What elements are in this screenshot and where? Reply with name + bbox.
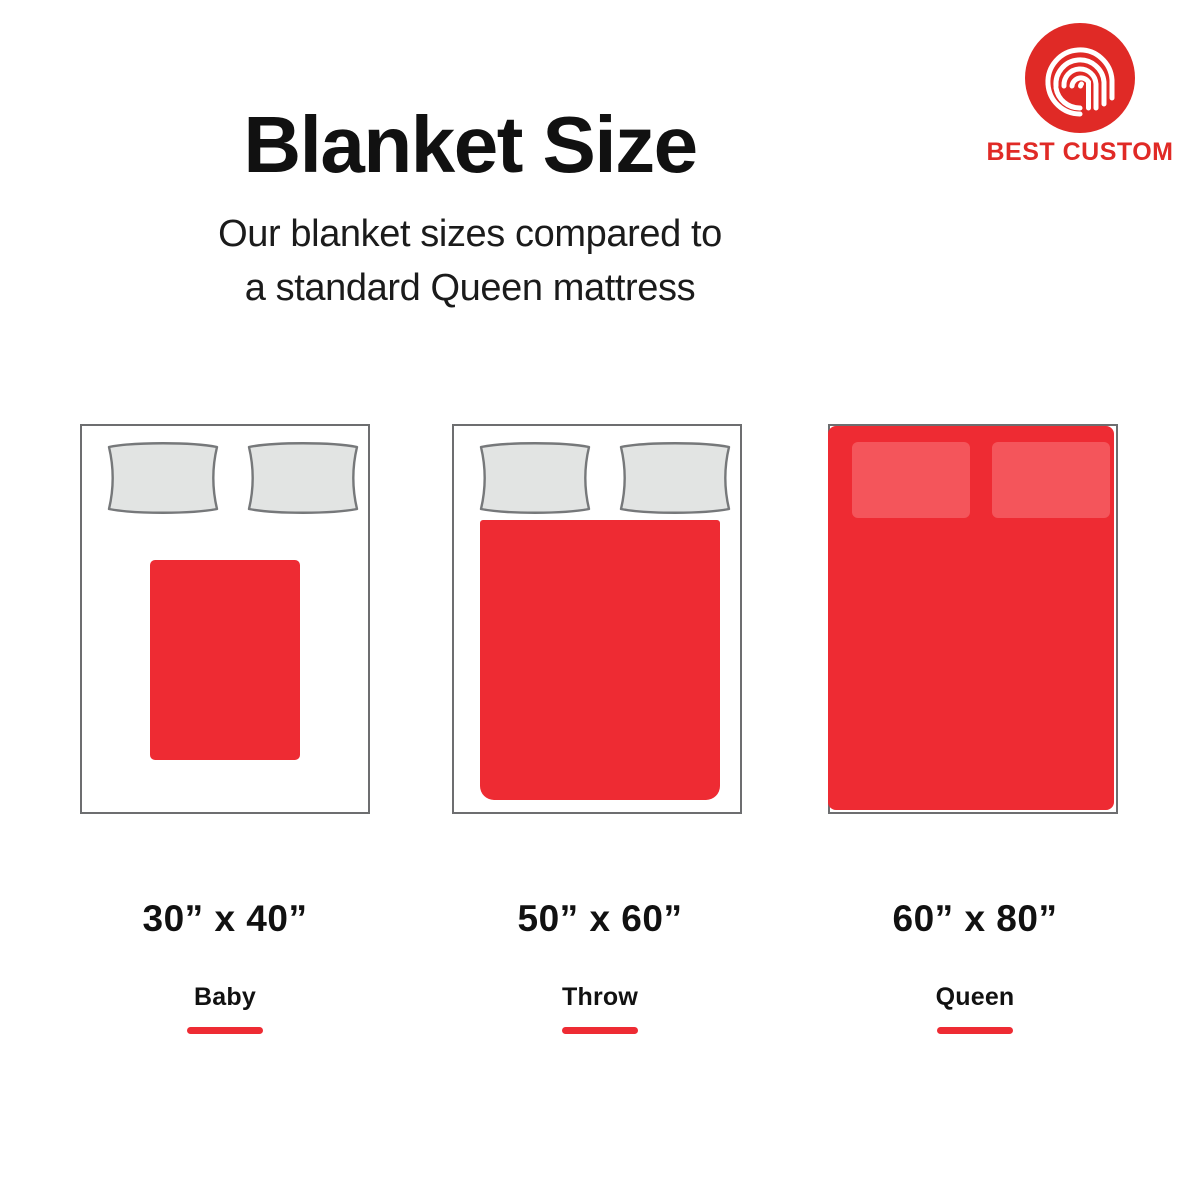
dimension-label: 50” x 60” (420, 900, 780, 937)
caption-baby: 30” x 40” Baby (45, 900, 405, 1034)
pillow-right-icon (992, 442, 1110, 518)
accent-underline (562, 1027, 638, 1034)
bed-diagram-baby (80, 424, 370, 814)
accent-underline (187, 1027, 263, 1034)
page-subtitle: Our blanket sizes compared to a standard… (90, 208, 850, 316)
subtitle-line-2: a standard Queen mattress (90, 262, 850, 316)
bed-diagrams-row (0, 424, 1200, 814)
dimension-label: 60” x 80” (795, 900, 1155, 937)
dimension-label: 30” x 40” (45, 900, 405, 937)
captions-row: 30” x 40” Baby 50” x 60” Throw 60” x 80”… (0, 900, 1200, 1050)
blanket-shape-queen (828, 426, 1114, 810)
size-name-label: Baby (45, 985, 405, 1010)
blanket-shape-throw (480, 520, 720, 800)
fingerprint-icon (1024, 22, 1136, 134)
bed-diagram-queen (828, 424, 1118, 814)
page-title: Blanket Size (0, 104, 940, 186)
brand-logo: BEST CUSTOM (980, 22, 1180, 165)
pillow-right-icon (616, 440, 734, 516)
bed-diagram-throw (452, 424, 742, 814)
heading-area: Blanket Size Our blanket sizes compared … (0, 104, 940, 316)
size-name-label: Throw (420, 985, 780, 1010)
subtitle-line-1: Our blanket sizes compared to (90, 208, 850, 262)
pillow-left-icon (476, 440, 594, 516)
caption-throw: 50” x 60” Throw (420, 900, 780, 1034)
pillow-left-icon (104, 440, 222, 516)
blanket-shape-baby (150, 560, 300, 760)
size-name-label: Queen (795, 985, 1155, 1010)
caption-queen: 60” x 80” Queen (795, 900, 1155, 1034)
accent-underline (937, 1027, 1013, 1034)
pillow-left-icon (852, 442, 970, 518)
brand-wordmark: BEST CUSTOM (987, 140, 1174, 165)
pillow-right-icon (244, 440, 362, 516)
